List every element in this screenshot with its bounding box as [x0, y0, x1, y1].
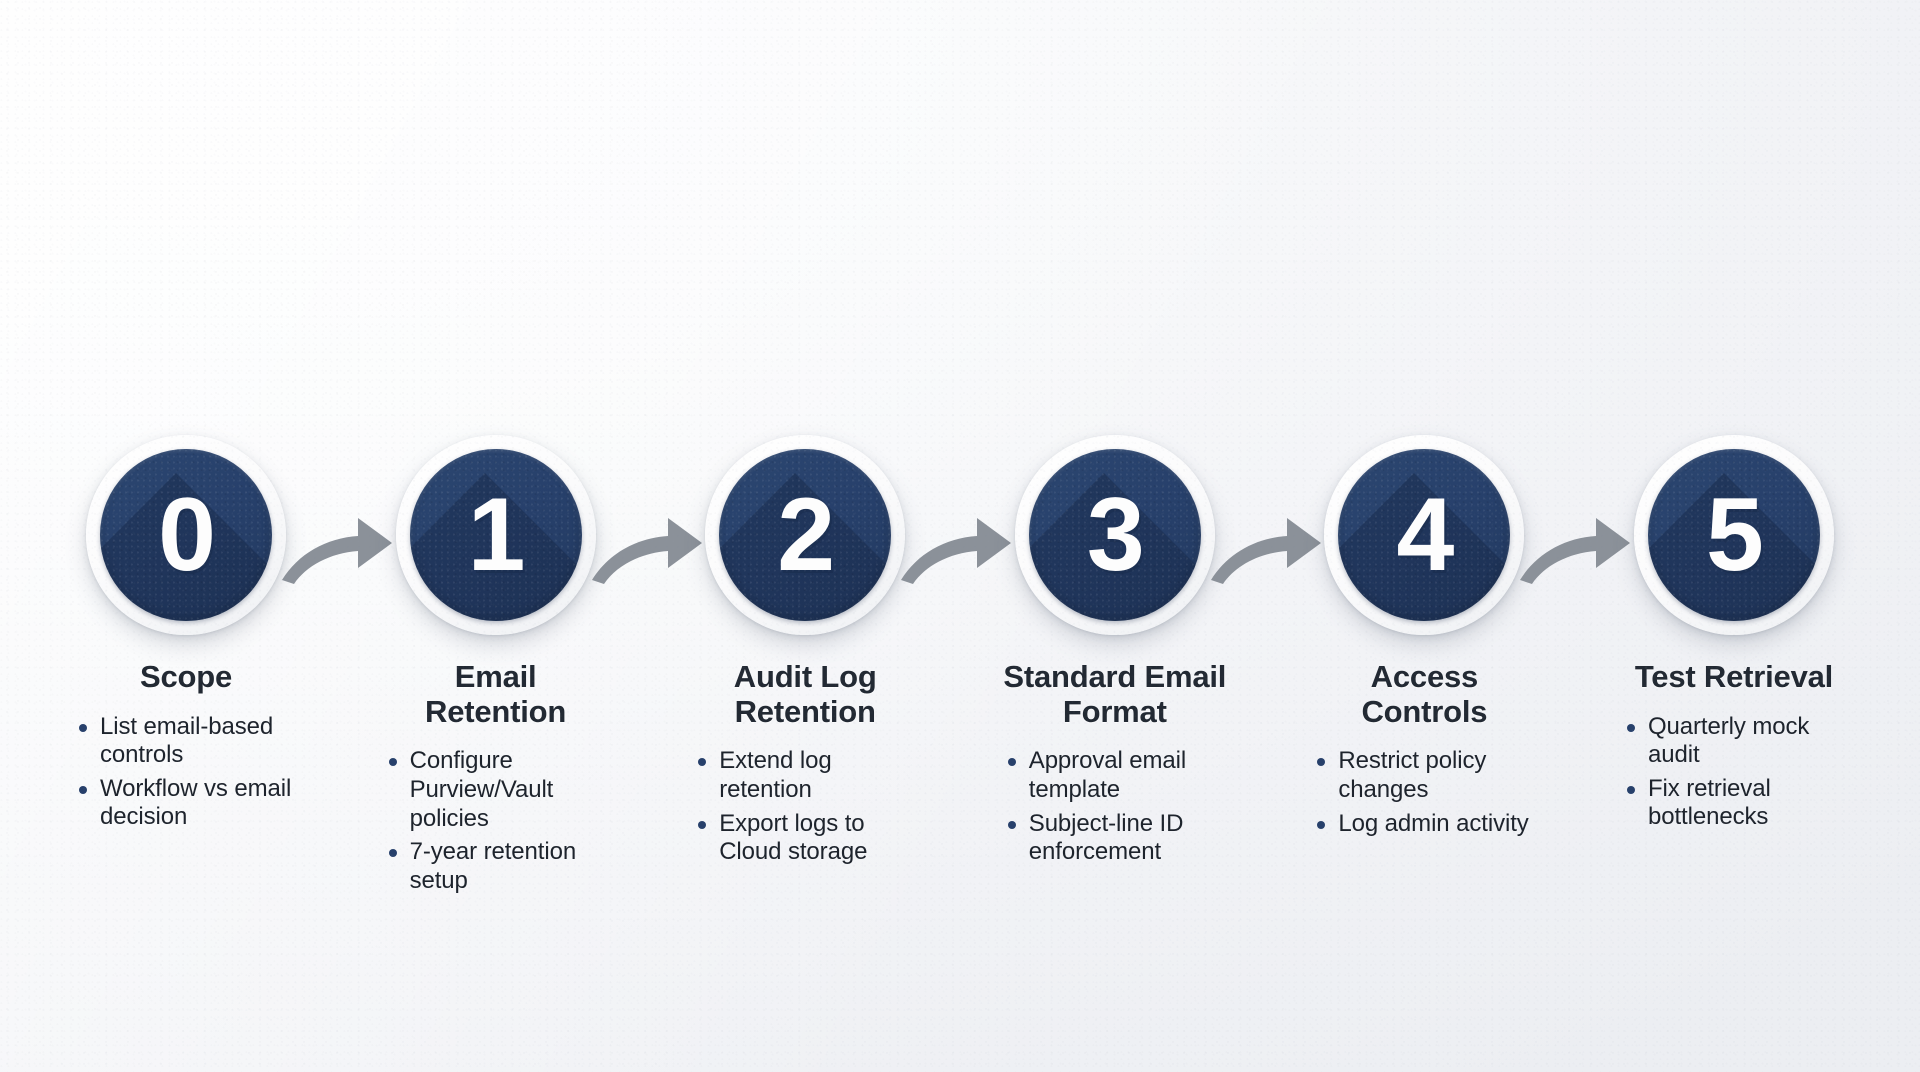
- step-badge-2[interactable]: 2: [700, 430, 910, 640]
- bullet-text: Approval email template: [1029, 747, 1186, 803]
- list-item: Workflow vs email decision: [75, 775, 297, 832]
- step-badge-4[interactable]: 4: [1319, 430, 1529, 640]
- step-number: 1: [468, 483, 524, 587]
- list-item: Approval email template: [1004, 747, 1226, 804]
- bullet-dot-icon: [79, 786, 87, 794]
- list-item: Fix retrieval bottlenecks: [1623, 775, 1845, 832]
- bullet-text: Configure Purview/Vault policies: [410, 747, 554, 831]
- badge-circle: 0: [100, 449, 272, 621]
- bullet-dot-icon: [698, 821, 706, 829]
- bullet-dot-icon: [79, 724, 87, 732]
- process-step-5[interactable]: 5 Test Retrieval Quarterly mock audit Fi…: [1608, 430, 1860, 837]
- process-step-0[interactable]: 0 Scope List email-based controls Workfl…: [60, 430, 312, 837]
- step-title: Scope: [73, 660, 299, 695]
- process-step-2[interactable]: 2 Audit Log Retention Extend log retenti…: [679, 430, 931, 872]
- step-badge-3[interactable]: 3: [1010, 430, 1220, 640]
- step-bullet-list: Configure Purview/Vault policies 7-year …: [385, 747, 607, 900]
- bullet-text: Restrict policy changes: [1338, 747, 1486, 803]
- list-item: 7-year retention setup: [385, 838, 607, 895]
- step-bullet-list: Quarterly mock audit Fix retrieval bottl…: [1623, 713, 1845, 837]
- bullet-text: Subject-line ID enforcement: [1029, 810, 1184, 866]
- step-number: 5: [1706, 483, 1762, 587]
- badge-circle: 5: [1648, 449, 1820, 621]
- step-title: Test Retrieval: [1621, 660, 1847, 695]
- bullet-dot-icon: [1627, 724, 1635, 732]
- diagram-canvas: 0 Scope List email-based controls Workfl…: [0, 0, 1920, 1072]
- bullet-dot-icon: [1008, 758, 1016, 766]
- list-item: Log admin activity: [1313, 810, 1535, 839]
- bullet-text: Quarterly mock audit: [1648, 713, 1809, 769]
- list-item: List email-based controls: [75, 713, 297, 770]
- bullet-text: Fix retrieval bottlenecks: [1648, 775, 1771, 831]
- process-step-3[interactable]: 3 Standard Email Format Approval email t…: [989, 430, 1241, 872]
- badge-circle: 3: [1029, 449, 1201, 621]
- bullet-text: 7-year retention setup: [410, 838, 577, 894]
- step-bullet-list: Restrict policy changes Log admin activi…: [1313, 747, 1535, 843]
- list-item: Subject-line ID enforcement: [1004, 810, 1226, 867]
- badge-circle: 4: [1338, 449, 1510, 621]
- bullet-text: List email-based controls: [100, 713, 273, 769]
- badge-circle: 1: [410, 449, 582, 621]
- bullet-dot-icon: [1317, 821, 1325, 829]
- bullet-dot-icon: [698, 758, 706, 766]
- list-item: Configure Purview/Vault policies: [385, 747, 607, 833]
- step-number: 2: [777, 483, 833, 587]
- bullet-dot-icon: [389, 849, 397, 857]
- bullet-text: Extend log retention: [719, 747, 831, 803]
- step-number: 0: [158, 483, 214, 587]
- step-title: Access Controls: [1311, 660, 1537, 729]
- step-badge-5[interactable]: 5: [1629, 430, 1839, 640]
- bullet-dot-icon: [1627, 786, 1635, 794]
- bullet-text: Export logs to Cloud storage: [719, 810, 867, 866]
- step-title: Audit Log Retention: [692, 660, 918, 729]
- bullet-dot-icon: [1317, 758, 1325, 766]
- bullet-dot-icon: [389, 758, 397, 766]
- step-bullet-list: Approval email template Subject-line ID …: [1004, 747, 1226, 871]
- step-bullet-list: List email-based controls Workflow vs em…: [75, 713, 297, 837]
- step-title: Email Retention: [383, 660, 609, 729]
- list-item: Extend log retention: [694, 747, 916, 804]
- list-item: Export logs to Cloud storage: [694, 810, 916, 867]
- list-item: Restrict policy changes: [1313, 747, 1535, 804]
- step-number: 4: [1396, 483, 1452, 587]
- badge-circle: 2: [719, 449, 891, 621]
- bullet-text: Workflow vs email decision: [100, 775, 291, 831]
- step-title: Standard Email Format: [1002, 660, 1228, 729]
- process-step-1[interactable]: 1 Email Retention Configure Purview/Vaul…: [370, 430, 622, 900]
- bullet-text: Log admin activity: [1338, 810, 1528, 837]
- step-badge-1[interactable]: 1: [391, 430, 601, 640]
- process-flow-rail: 0 Scope List email-based controls Workfl…: [60, 430, 1860, 900]
- bullet-dot-icon: [1008, 821, 1016, 829]
- list-item: Quarterly mock audit: [1623, 713, 1845, 770]
- process-step-4[interactable]: 4 Access Controls Restrict policy change…: [1298, 430, 1550, 843]
- step-number: 3: [1087, 483, 1143, 587]
- step-badge-0[interactable]: 0: [81, 430, 291, 640]
- step-bullet-list: Extend log retention Export logs to Clou…: [694, 747, 916, 871]
